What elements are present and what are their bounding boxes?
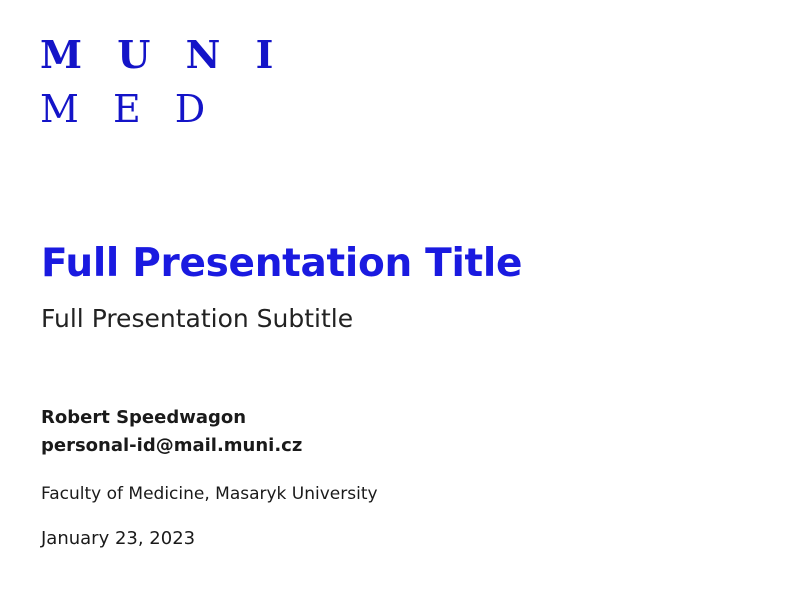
logo-wordmark-med: M E D <box>40 90 300 128</box>
presentation-subtitle: Full Presentation Subtitle <box>41 305 353 334</box>
author-name: Robert Speedwagon <box>41 404 302 432</box>
muni-med-logo: M U N I M E D <box>40 36 300 128</box>
author-block: Robert Speedwagon personal-id@mail.muni.… <box>41 404 302 460</box>
title-slide: M U N I M E D Full Presentation Title Fu… <box>0 0 794 596</box>
author-email: personal-id@mail.muni.cz <box>41 432 302 460</box>
presentation-title: Full Presentation Title <box>41 243 522 285</box>
presentation-date: January 23, 2023 <box>41 528 195 549</box>
author-affiliation: Faculty of Medicine, Masaryk University <box>41 484 378 504</box>
logo-wordmark-muni: M U N I <box>40 36 300 74</box>
